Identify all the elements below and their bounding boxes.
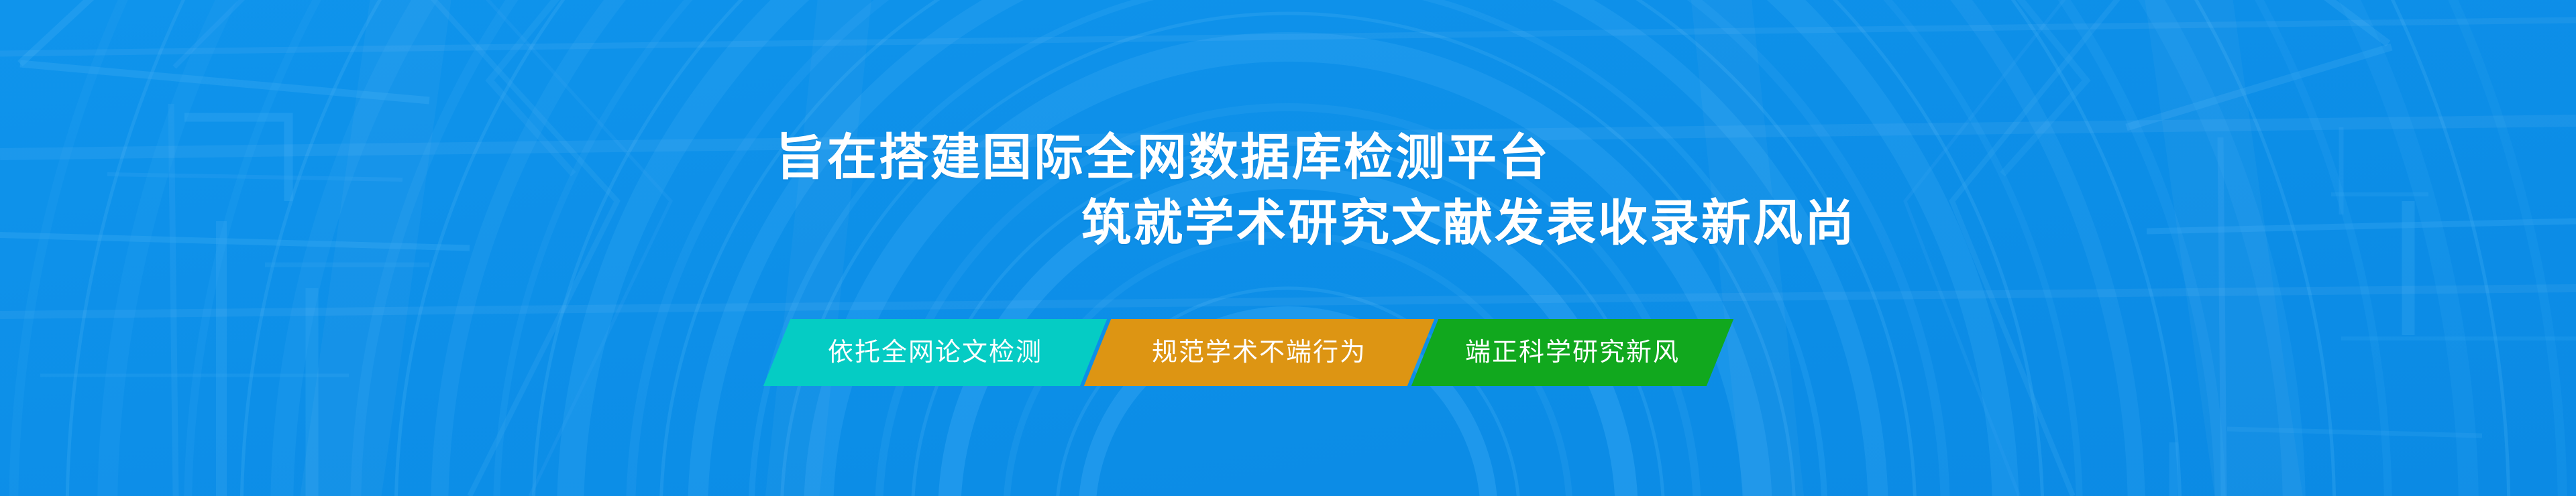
feature-tag-integrity[interactable]: 端正科学研究新风 [1411, 319, 1733, 386]
promotional-banner: 旨在搭建国际全网数据库检测平台 筑就学术研究文献发表收录新风尚 依托全网论文检测… [0, 0, 2576, 496]
feature-tag-misconduct[interactable]: 规范学术不端行为 [1084, 319, 1434, 386]
headline-block: 旨在搭建国际全网数据库检测平台 筑就学术研究文献发表收录新风尚 [0, 125, 2576, 256]
feature-tag-label: 依托全网论文检测 [828, 340, 1042, 365]
headline-line-1: 旨在搭建国际全网数据库检测平台 [775, 125, 2576, 190]
feature-tag-label: 端正科学研究新风 [1465, 340, 1680, 365]
headline-line-2: 筑就学术研究文献发表收录新风尚 [1081, 190, 2576, 256]
feature-tag-detection[interactable]: 依托全网论文检测 [763, 319, 1107, 386]
feature-tag-strip: 依托全网论文检测 规范学术不端行为 端正科学研究新风 [777, 319, 1720, 386]
feature-tag-label: 规范学术不端行为 [1152, 340, 1366, 365]
